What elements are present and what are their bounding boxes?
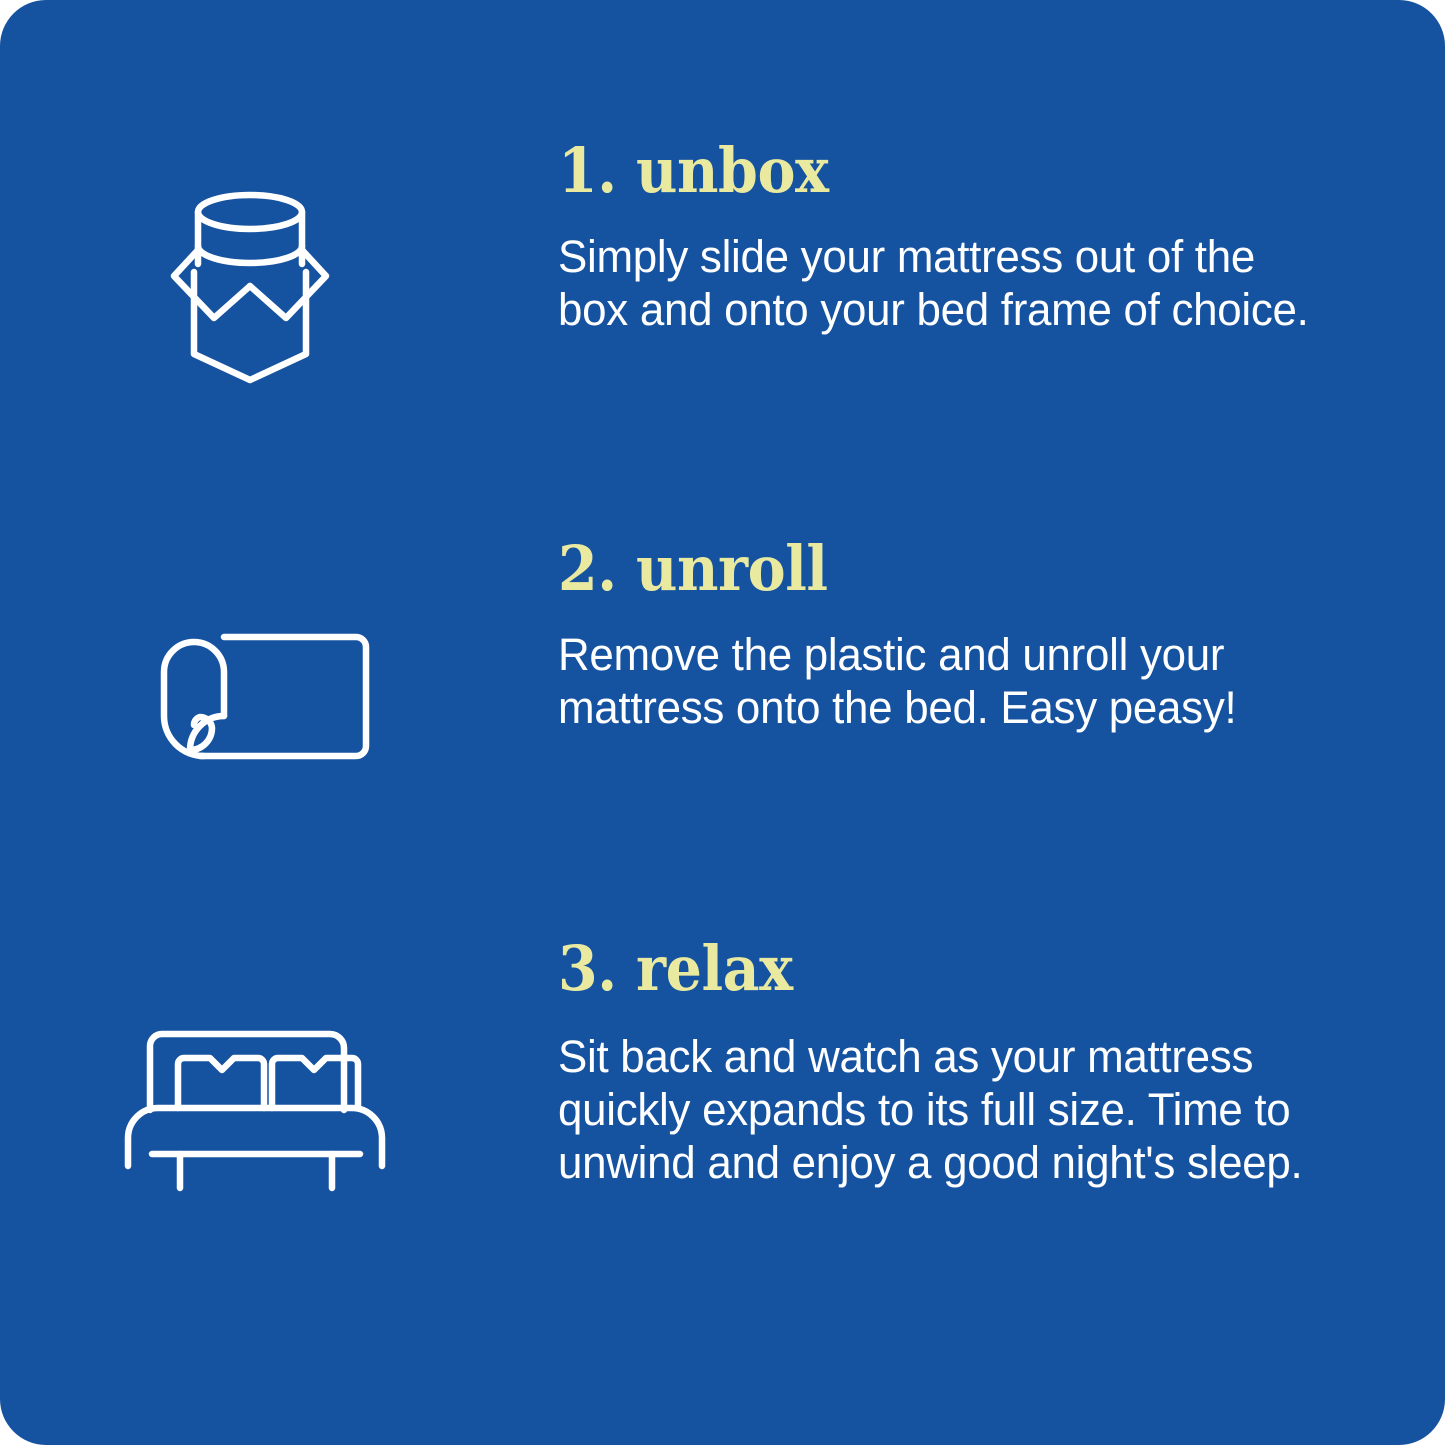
open-box-with-rolled-mattress-icon	[168, 188, 332, 386]
bed-with-pillows-icon	[122, 1028, 390, 1198]
step-unroll-title: 2. unroll	[558, 538, 1285, 600]
instructions-card: 1. unbox Simply slide your mattress out …	[0, 0, 1445, 1445]
step-unroll: 2. unroll Remove the plastic and unroll …	[0, 490, 1445, 910]
step-unbox-text: 1. unbox Simply slide your mattress out …	[558, 140, 1348, 336]
step-unroll-text: 2. unroll Remove the plastic and unroll …	[558, 538, 1348, 734]
step-unbox-body: Simply slide your mattress out of the bo…	[558, 230, 1320, 336]
step-relax: 3. relax Sit back and watch as your matt…	[0, 900, 1445, 1380]
step-unbox-title: 1. unbox	[558, 140, 1285, 202]
step-relax-text: 3. relax Sit back and watch as your matt…	[558, 938, 1348, 1189]
step-relax-title: 3. relax	[558, 938, 1285, 1000]
step-unroll-body: Remove the plastic and unroll your mattr…	[558, 628, 1320, 734]
rolled-mattress-unrolling-icon	[148, 624, 370, 770]
step-unbox: 1. unbox Simply slide your mattress out …	[0, 0, 1445, 480]
step-relax-body: Sit back and watch as your mattress quic…	[558, 1030, 1320, 1189]
